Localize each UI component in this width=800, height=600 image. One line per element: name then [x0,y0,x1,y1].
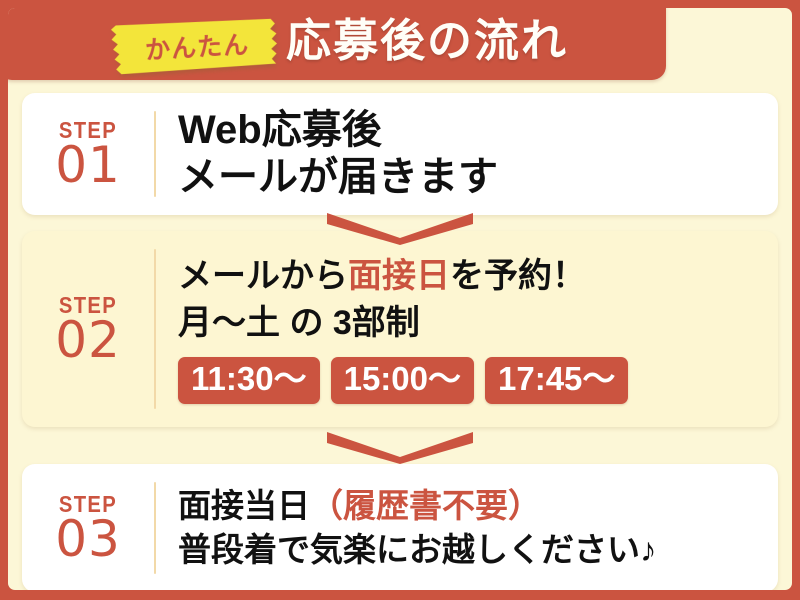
text-segment: で気楽にお越しください♪ [277,531,657,568]
text-segment: を予約！ [450,257,586,295]
header-banner: 応募後の流れ [8,8,666,80]
step-number-block-02: STEP 02 [22,293,154,365]
step-body-01: Web応募後 メールが届きます [156,107,778,201]
step-word-03: STEP [30,492,146,516]
step-digits-03: 03 [22,516,154,564]
step-text-line: 面接当日（履歴書不要） [178,487,778,526]
step-word-02: STEP [30,293,146,317]
step-digits-02: 02 [22,317,154,365]
text-segment: メールから [178,257,348,295]
step-body-03: 面接当日（履歴書不要） 普段着で気楽にお越しください♪ [156,487,778,570]
step-text-line: メールから面接日を予約！ [178,256,778,296]
tape-label: かんたん [111,16,281,74]
interview-time-slot-list: 11:30〜 15:00〜 17:45〜 [178,357,778,404]
step-text-line: 月〜土 の 3部制 [178,303,778,343]
step-card-03: STEP 03 面接当日（履歴書不要） 普段着で気楽にお越しください♪ [22,464,778,590]
highlighted-text-segment: 月〜土 の 3部制 [178,303,420,343]
step-text-line: メールが届きます [178,154,778,201]
step-card-01: STEP 01 Web応募後 メールが届きます [22,93,778,215]
emphasis-text-segment: 面接日 [348,257,450,295]
time-slot-badge[interactable]: 15:00〜 [331,357,474,404]
step-connector-arrow-2 [325,430,475,464]
step-number-block-01: STEP 01 [22,118,154,190]
step-word-01: STEP [30,118,146,142]
step-connector-arrow-1 [325,211,475,245]
tape-badge: かんたん [111,16,281,74]
highlighted-text-segment: 普段着 [178,531,277,570]
poster-root: 応募後の流れ かんたん STEP 01 Web応募後 メールが届きます [0,0,800,600]
step-body-02: メールから面接日を予約！ 月〜土 の 3部制 11:30〜 15:00〜 17:… [156,254,778,403]
step-number-block-03: STEP 03 [22,492,154,564]
chevron-down-icon [325,211,475,245]
step-text-line: 普段着で気楽にお越しください♪ [178,531,778,570]
step-card-02: STEP 02 メールから面接日を予約！ 月〜土 の 3部制 11:30〜 15… [22,231,778,427]
text-segment: Web応募後 [178,108,382,152]
time-slot-badge[interactable]: 11:30〜 [178,357,320,404]
time-slot-badge[interactable]: 17:45〜 [485,357,628,404]
page-title: 応募後の流れ [286,8,568,69]
text-segment: 面接当日 [178,487,310,524]
emphasis-text-segment: （履歴書不要） [310,487,541,524]
poster-inner-panel: 応募後の流れ かんたん STEP 01 Web応募後 メールが届きます [8,8,792,590]
step-digits-01: 01 [22,142,154,190]
highlighted-text-segment: メールが届きます [178,154,498,201]
step-text-line: Web応募後 [178,107,778,154]
chevron-down-icon [325,430,475,464]
